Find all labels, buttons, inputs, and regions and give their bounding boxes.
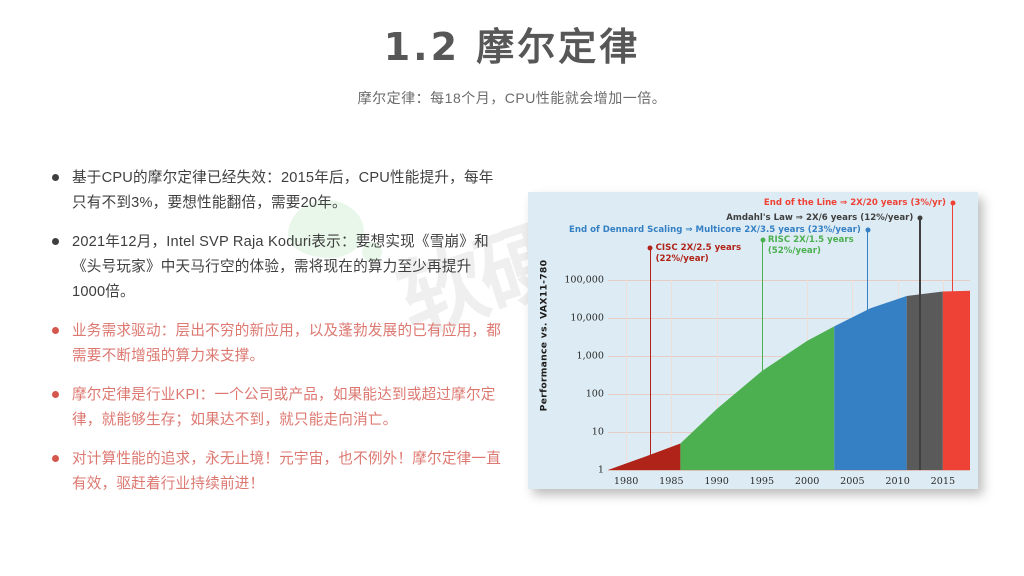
chart-series-layer [528, 192, 978, 489]
bullet-text: 对计算性能的追求，永无止境！元宇宙，也不例外！摩尔定律一直有效，驱赶着行业持续前… [72, 447, 504, 497]
bullet-text: 业务需求驱动：层出不穷的新应用，以及蓬勃发展的已有应用，都需要不断增强的算力来支… [72, 319, 504, 369]
chart-y-axis-title: Performance vs. VAX11-780 [539, 236, 550, 436]
chart-area-series [834, 296, 906, 470]
chart-annotation-label-line1: End of Dennard Scaling ⇒ Multicore 2X/3.… [569, 225, 861, 236]
chart-annotation-line [919, 218, 921, 470]
chart-annotation-label: End of Dennard Scaling ⇒ Multicore 2X/3.… [569, 225, 861, 236]
chart-annotation-line [762, 240, 764, 470]
bullet-text: 摩尔定律是行业KPI：一个公司或产品，如果能达到或超过摩尔定律，就能够生存；如果… [72, 383, 504, 433]
chart-annotation-label: Amdahl's Law ⇒ 2X/6 years (12%/year) [726, 213, 913, 224]
chart-annotation-line [867, 230, 869, 470]
chart-annotation-label-line1: Amdahl's Law ⇒ 2X/6 years (12%/year) [726, 213, 913, 224]
chart-annotation-label: RISC 2X/1.5 years(52%/year) [768, 235, 854, 257]
chart-annotation-label: End of the Line ⇒ 2X/20 years (3%/yr) [764, 198, 946, 209]
bullet-dot-icon [52, 391, 59, 398]
chart-annotation-dot-icon [648, 246, 653, 251]
chart-annotation-label: CISC 2X/2.5 years(22%/year) [656, 243, 742, 265]
chart-annotation-dot-icon [918, 216, 923, 221]
page-subtitle: 摩尔定律：每18个月，CPU性能就会增加一倍。 [0, 88, 1024, 108]
chart-annotation-label-line1: CISC 2X/2.5 years [656, 243, 742, 254]
bullet-item: 业务需求驱动：层出不穷的新应用，以及蓬勃发展的已有应用，都需要不断增强的算力来支… [52, 319, 504, 369]
chart-annotation-label-line1: End of the Line ⇒ 2X/20 years (3%/yr) [764, 198, 946, 209]
chart-plot-area: 1101001,00010,000100,0001980198519901995… [528, 192, 978, 489]
chart-annotation-dot-icon [950, 201, 955, 206]
processor-performance-chart: 1101001,00010,000100,0001980198519901995… [528, 192, 978, 489]
page-title: 1.2 摩尔定律 [0, 16, 1024, 71]
bullet-item: 对计算性能的追求，永无止境！元宇宙，也不例外！摩尔定律一直有效，驱赶着行业持续前… [52, 447, 504, 497]
bullet-text: 基于CPU的摩尔定律已经失效：2015年后，CPU性能提升，每年只有不到3%，要… [72, 166, 504, 216]
chart-annotation-label-line2: (52%/year) [768, 246, 854, 257]
bullet-dot-icon [52, 238, 59, 245]
bullet-item: 摩尔定律是行业KPI：一个公司或产品，如果能达到或超过摩尔定律，就能够生存；如果… [52, 383, 504, 433]
bullet-text: 2021年12月，Intel SVP Raja Koduri表示：要想实现《雪崩… [72, 230, 504, 305]
chart-area-series [943, 291, 970, 470]
bullet-dot-icon [52, 455, 59, 462]
chart-annotation-dot-icon [760, 238, 765, 243]
chart-annotation-line [952, 203, 954, 470]
chart-area-series [608, 443, 680, 470]
chart-annotation-label-line2: (22%/year) [656, 254, 742, 265]
bullet-dot-icon [52, 327, 59, 334]
bullet-item: 2021年12月，Intel SVP Raja Koduri表示：要想实现《雪崩… [52, 230, 504, 305]
bullet-list: 基于CPU的摩尔定律已经失效：2015年后，CPU性能提升，每年只有不到3%，要… [52, 166, 504, 511]
bullet-dot-icon [52, 174, 59, 181]
chart-area-series [680, 326, 834, 470]
chart-annotation-dot-icon [865, 228, 870, 233]
chart-area-series [907, 291, 943, 470]
chart-annotation-line [650, 248, 652, 470]
chart-annotation-label-line1: RISC 2X/1.5 years [768, 235, 854, 246]
bullet-item: 基于CPU的摩尔定律已经失效：2015年后，CPU性能提升，每年只有不到3%，要… [52, 166, 504, 216]
